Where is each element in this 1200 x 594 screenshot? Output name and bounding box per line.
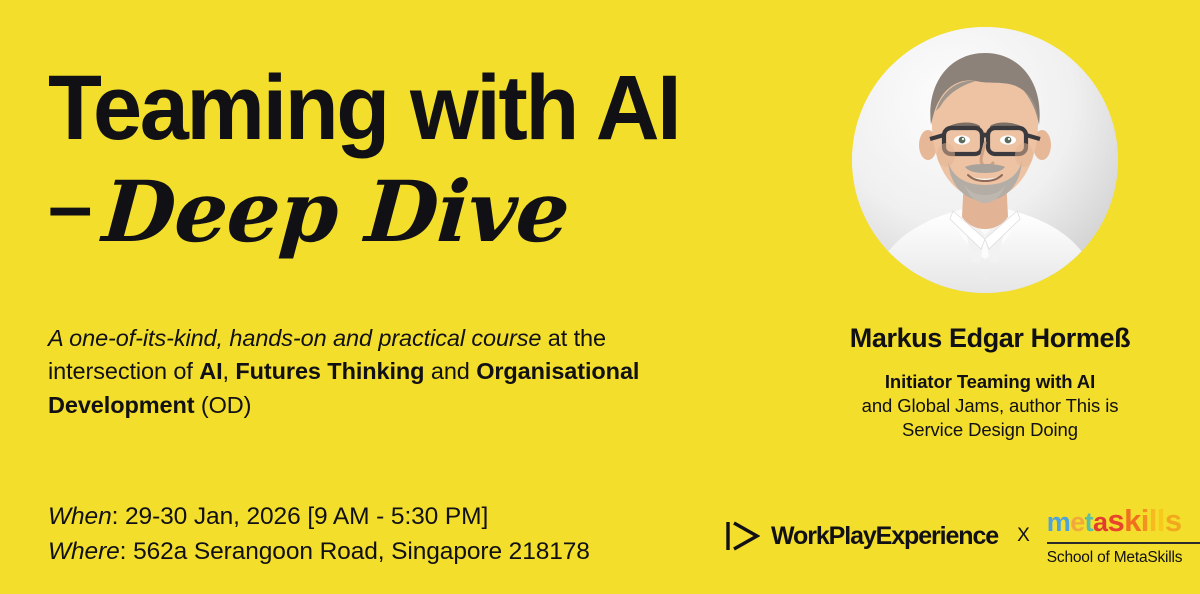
metaskills-letter: m xyxy=(1047,509,1070,536)
speaker-portrait-photo xyxy=(852,27,1118,293)
metaskills-logo: metaskills School of MetaSkills xyxy=(1047,505,1200,567)
where-label: Where xyxy=(48,538,120,565)
metaskills-letter: t xyxy=(1085,509,1093,536)
title-dash: – xyxy=(48,166,93,246)
footer-logos: WorkPlayExperience X metaskills School o… xyxy=(724,500,1180,572)
metaskills-letter: s xyxy=(1165,505,1182,536)
title-script-text: Deep Dive xyxy=(99,168,571,256)
speaker-role: Initiator Teaming with AI xyxy=(800,370,1180,394)
metaskills-tagline: School of MetaSkills xyxy=(1047,549,1200,567)
metaskills-letter: l xyxy=(1157,505,1165,536)
speaker-description-line-2: Service Design Doing xyxy=(800,418,1180,442)
metaskills-divider xyxy=(1047,542,1200,544)
page-title-line-1: Teaming with AI xyxy=(48,62,679,154)
left-content-column: Teaming with AI – Deep Dive A one-of-its… xyxy=(48,0,788,594)
page-title-line-2: – Deep Dive xyxy=(48,168,568,256)
subtitle-strong-futures: Futures Thinking xyxy=(235,358,424,384)
subtitle-text-4: (OD) xyxy=(194,392,251,418)
subtitle-description: A one-of-its-kind, hands-on and practica… xyxy=(48,322,728,422)
metaskills-letter: k xyxy=(1124,505,1141,536)
metaskills-letter: e xyxy=(1070,509,1084,536)
metaskills-letter: l xyxy=(1149,505,1157,536)
event-banner: Teaming with AI – Deep Dive A one-of-its… xyxy=(0,0,1200,594)
metaskills-letter: a xyxy=(1093,509,1107,536)
when-value: : 29-30 Jan, 2026 [9 AM - 5:30 PM] xyxy=(112,503,489,530)
metaskills-meta: meta xyxy=(1047,509,1108,536)
subtitle-text-3: and xyxy=(424,358,476,384)
event-when-row: When: 29-30 Jan, 2026 [9 AM - 5:30 PM] xyxy=(48,500,748,535)
subtitle-text-2: , xyxy=(223,358,236,384)
subtitle-emphasis: A one-of-its-kind, hands-on and practica… xyxy=(48,325,541,351)
when-label: When xyxy=(48,503,112,530)
metaskills-letter: s xyxy=(1107,505,1124,536)
speaker-description-line-1: and Global Jams, author This is xyxy=(800,394,1180,418)
speaker-info: Markus Edgar Hormeß Initiator Teaming wi… xyxy=(800,322,1180,443)
event-where-row: Where: 562a Serangoon Road, Singapore 21… xyxy=(48,535,748,570)
subtitle-strong-ai: AI xyxy=(199,358,222,384)
workplayexperience-wordmark: WorkPlayExperience xyxy=(771,522,998,551)
workplayexperience-logo: WorkPlayExperience xyxy=(724,519,998,553)
metaskills-wordmark: metaskills xyxy=(1047,505,1200,536)
logo-separator-x: X xyxy=(1017,525,1030,547)
metaskills-skills: skills xyxy=(1107,505,1181,536)
where-value: : 562a Serangoon Road, Singapore 218178 xyxy=(120,538,590,565)
metaskills-letter: i xyxy=(1141,505,1149,536)
speaker-name: Markus Edgar Hormeß xyxy=(800,322,1180,354)
play-triangle-icon xyxy=(724,519,760,553)
event-details: When: 29-30 Jan, 2026 [9 AM - 5:30 PM] W… xyxy=(48,500,748,570)
